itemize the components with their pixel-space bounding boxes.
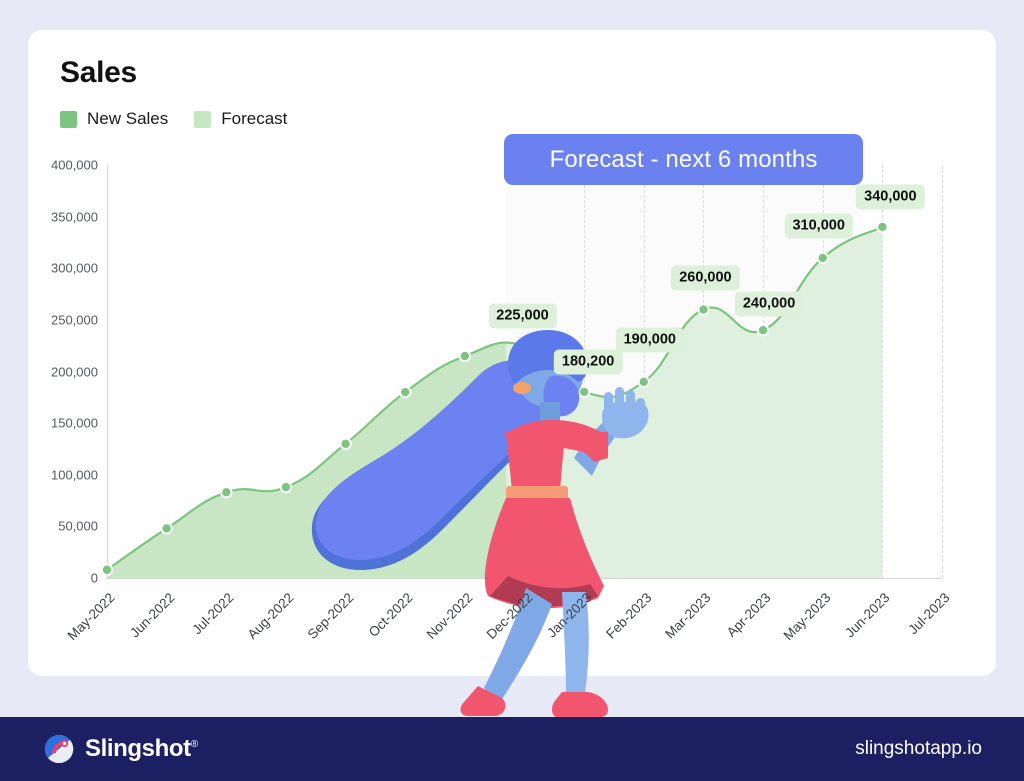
data-label: 180,200 <box>554 349 622 374</box>
data-point[interactable] <box>818 253 828 263</box>
data-label: 310,000 <box>784 213 852 238</box>
footer-bar: Slingshot® slingshotapp.io <box>0 717 1024 781</box>
chart-card: Sales New Sales Forecast 050,000100,0001… <box>28 30 996 676</box>
trademark-mark: ® <box>191 739 198 750</box>
brand-name: Slingshot® <box>85 735 198 763</box>
data-point[interactable] <box>221 487 231 497</box>
data-point[interactable] <box>698 304 708 314</box>
screenshot-root: Sales New Sales Forecast 050,000100,0001… <box>0 0 1024 781</box>
data-label: 260,000 <box>671 265 739 290</box>
brand-logo[interactable]: Slingshot® <box>44 734 198 764</box>
woman-illustration <box>308 330 668 760</box>
data-point[interactable] <box>102 565 112 575</box>
data-label: 225,000 <box>488 303 556 328</box>
forecast-banner[interactable]: Forecast - next 6 months <box>504 134 863 185</box>
slingshot-logo-icon <box>44 734 74 764</box>
data-label: 340,000 <box>856 184 924 209</box>
data-point[interactable] <box>161 523 171 533</box>
data-label: 190,000 <box>616 327 684 352</box>
data-point[interactable] <box>281 482 291 492</box>
data-label: 240,000 <box>735 292 803 317</box>
data-point[interactable] <box>758 325 768 335</box>
data-point[interactable] <box>877 222 887 232</box>
brand-word: Slingshot <box>85 735 191 762</box>
site-url[interactable]: slingshotapp.io <box>855 738 982 760</box>
